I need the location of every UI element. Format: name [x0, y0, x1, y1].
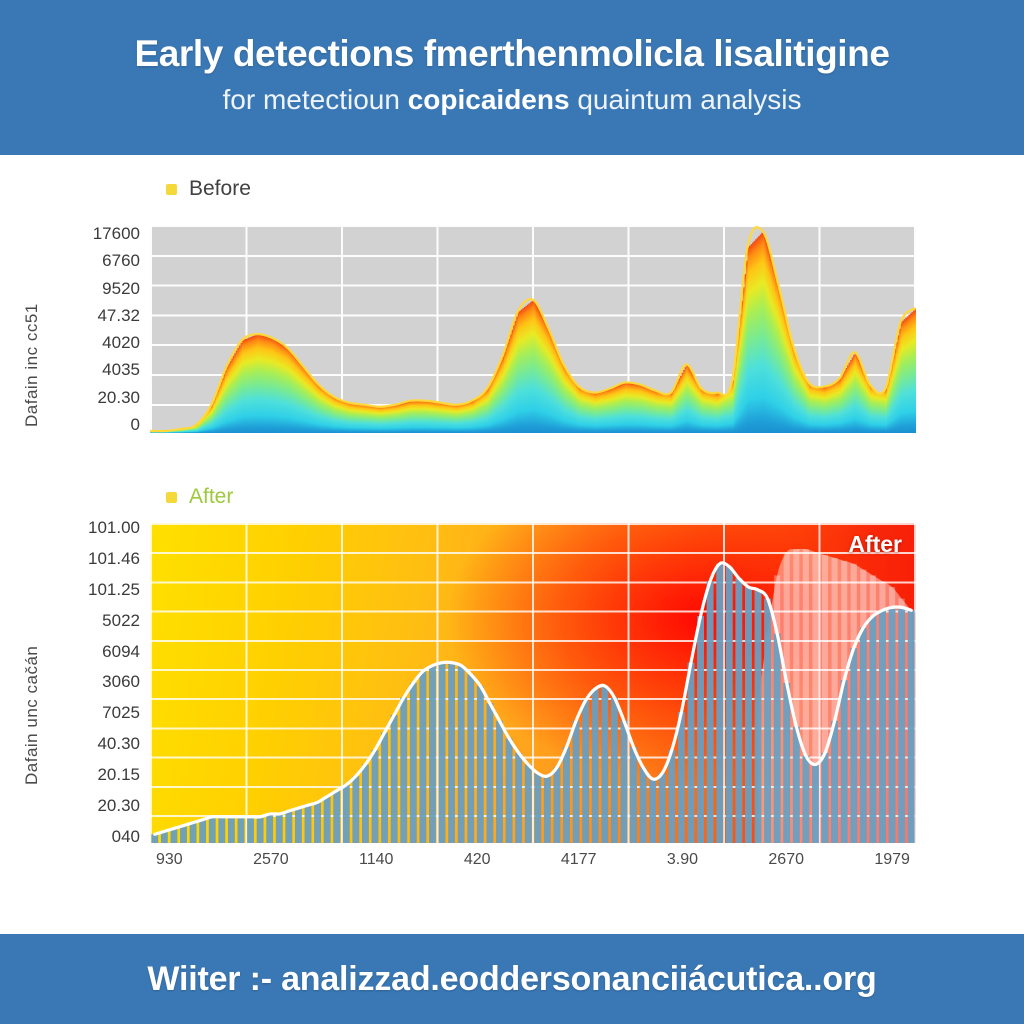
y-axis-title-after: Dafain unc cačán [22, 575, 42, 785]
y-tick: 101.46 [88, 550, 140, 567]
legend-label-before: Before [189, 177, 251, 201]
chart-panel-before: Before Dafain inc cc51 17600 6760 9520 4… [0, 177, 1024, 447]
y-tick: 101.00 [88, 519, 140, 536]
y-tick: 0 [131, 416, 140, 433]
legend-label-after: After [189, 485, 233, 509]
y-tick: 101.25 [88, 581, 140, 598]
page-title: Early detections fmerthenmolicla lisalit… [134, 33, 889, 74]
y-tick: 6094 [102, 643, 140, 660]
poster-root: Early detections fmerthenmolicla lisalit… [0, 0, 1024, 1024]
y-tick: 20.15 [97, 766, 140, 783]
header-banner: Early detections fmerthenmolicla lisalit… [0, 0, 1024, 155]
x-tick: 1140 [359, 851, 393, 869]
legend-before[interactable]: Before [166, 177, 251, 201]
chart-panel-after: After Dafain unc cačán 101.00 101.46 101… [0, 485, 1024, 885]
plot-area-before[interactable] [150, 225, 916, 433]
y-axis-title-before: Dafain inc cc51 [22, 237, 42, 427]
legend-marker-before [166, 184, 177, 195]
legend-after[interactable]: After [166, 485, 233, 509]
plot-area-after[interactable]: After [150, 523, 916, 843]
y-tick: 3060 [102, 673, 140, 690]
x-tick: 3.90 [667, 851, 698, 869]
series-area-before [150, 225, 916, 433]
y-tick: 4020 [102, 334, 140, 351]
subtitle-pre: for metectioun [223, 84, 408, 115]
x-tick: 2670 [768, 851, 804, 869]
y-tick: 47.32 [97, 307, 140, 324]
x-axis-ticks-after: 930 2570 1140 420 4177 3.90 2670 1979 [150, 851, 916, 869]
x-tick: 420 [464, 851, 491, 869]
x-tick: 930 [156, 851, 183, 869]
y-tick: 6760 [102, 252, 140, 269]
charts-area: Before Dafain inc cc51 17600 6760 9520 4… [0, 155, 1024, 934]
subtitle-emphasis: copicaidens [408, 84, 570, 115]
x-tick: 4177 [561, 851, 597, 869]
y-tick: 7025 [102, 704, 140, 721]
x-tick: 1979 [874, 851, 910, 869]
y-tick: 040 [112, 828, 140, 845]
y-tick: 5022 [102, 612, 140, 629]
subtitle-post: quaintum analysis [570, 84, 802, 115]
status-badge-after: After [848, 531, 902, 558]
y-tick: 4035 [102, 361, 140, 378]
y-tick: 20.30 [97, 389, 140, 406]
footer-banner: Wiiter :- analizzad.eoddersonanciiácutic… [0, 934, 1024, 1024]
footer-url: Wiiter :- analizzad.eoddersonanciiácutic… [147, 960, 876, 999]
legend-marker-after [166, 492, 177, 503]
y-tick: 9520 [102, 280, 140, 297]
x-tick: 2570 [253, 851, 289, 869]
y-tick: 20.30 [97, 797, 140, 814]
y-tick: 17600 [93, 225, 140, 242]
series-bars-after [150, 523, 916, 843]
y-tick: 40.30 [97, 735, 140, 752]
y-axis-ticks-before: 17600 6760 9520 47.32 4020 4035 20.30 0 [48, 225, 140, 433]
page-subtitle: for metectioun copicaidens quaintum anal… [223, 85, 802, 116]
y-axis-ticks-after: 101.00 101.46 101.25 5022 6094 3060 7025… [48, 519, 140, 845]
